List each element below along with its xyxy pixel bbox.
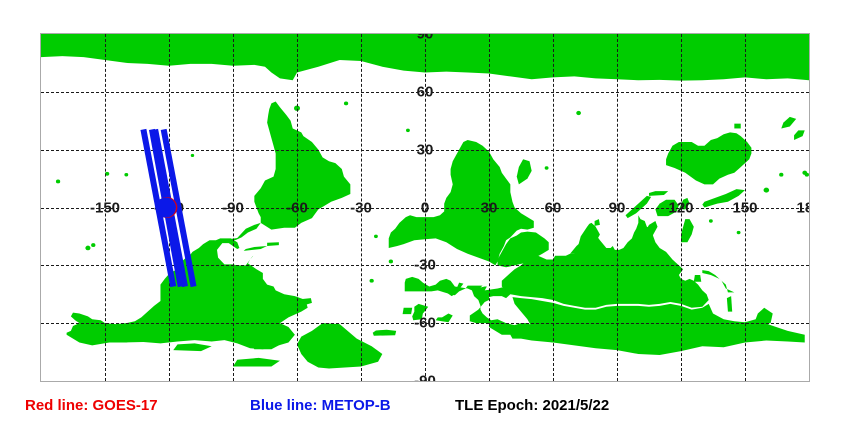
legend-caption-bar: Red line: GOES-17 Blue line: METOP-B TLE… bbox=[0, 396, 850, 422]
satellite-ground-track-figure: -300306090120150180-150-120-90-609060300… bbox=[0, 0, 850, 425]
world-map-plot-area: -300306090120150180-150-120-90-609060300… bbox=[40, 33, 810, 382]
legend-goes-17-label: Red line: GOES-17 bbox=[25, 396, 158, 416]
satellite-markers bbox=[156, 197, 177, 217]
legend-tle-epoch-label: TLE Epoch: 2021/5/22 bbox=[455, 396, 609, 416]
metop-b-position-marker bbox=[156, 197, 176, 217]
legend-metop-b-label: Blue line: METOP-B bbox=[250, 396, 391, 416]
satellite-track-layer bbox=[41, 34, 809, 381]
